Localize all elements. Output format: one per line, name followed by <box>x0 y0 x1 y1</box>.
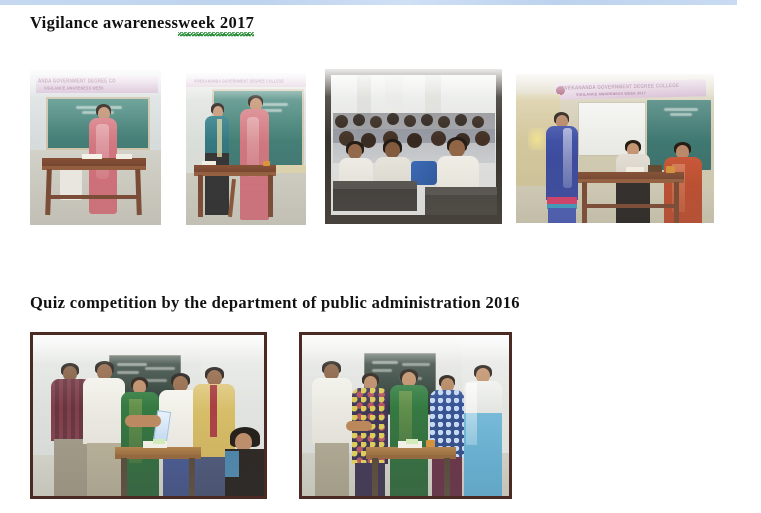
photo-two-women-at-blackboard: VIVEKANANDA GOVERNMENT DEGREE COLLEGE <box>186 73 306 225</box>
photo-prize-distribution-women <box>299 332 512 499</box>
page-title-quiz: Quiz competition by the department of pu… <box>30 293 520 313</box>
photo2-banner-text: VIVEKANANDA GOVERNMENT DEGREE COLLEGE <box>194 79 284 84</box>
photo-dais-with-banner: VIVEKANANDA GOVERNMENT DEGREE COLLEGE VI… <box>516 74 714 223</box>
heading-1-flagged-label: week 2017 <box>178 13 254 32</box>
photo-lecturer-at-table: ANDA GOVERNMENT DEGREE CO VIGILANCE AWAR… <box>30 70 161 225</box>
heading-2-label: Quiz competition by the department of pu… <box>30 293 520 312</box>
window-top-strip-tail <box>737 0 761 5</box>
window-top-strip <box>0 0 737 5</box>
photo1-banner-subtext: VIGILANCE AWARENESS WEEK <box>44 86 104 91</box>
photo-student-audience <box>325 69 502 224</box>
heading-1-lead: Vigilance awareness <box>30 13 178 32</box>
spellcheck-squiggle-underline <box>178 33 254 37</box>
photo-prize-distribution-men <box>30 332 267 499</box>
document-page: Vigilance awareness week 2017 ANDA GOVER… <box>0 0 761 513</box>
heading-1-flagged-text: week 2017 <box>178 13 254 33</box>
page-title-vigilance: Vigilance awareness week 2017 <box>30 13 254 33</box>
photo1-banner-text: ANDA GOVERNMENT DEGREE CO <box>38 77 116 83</box>
